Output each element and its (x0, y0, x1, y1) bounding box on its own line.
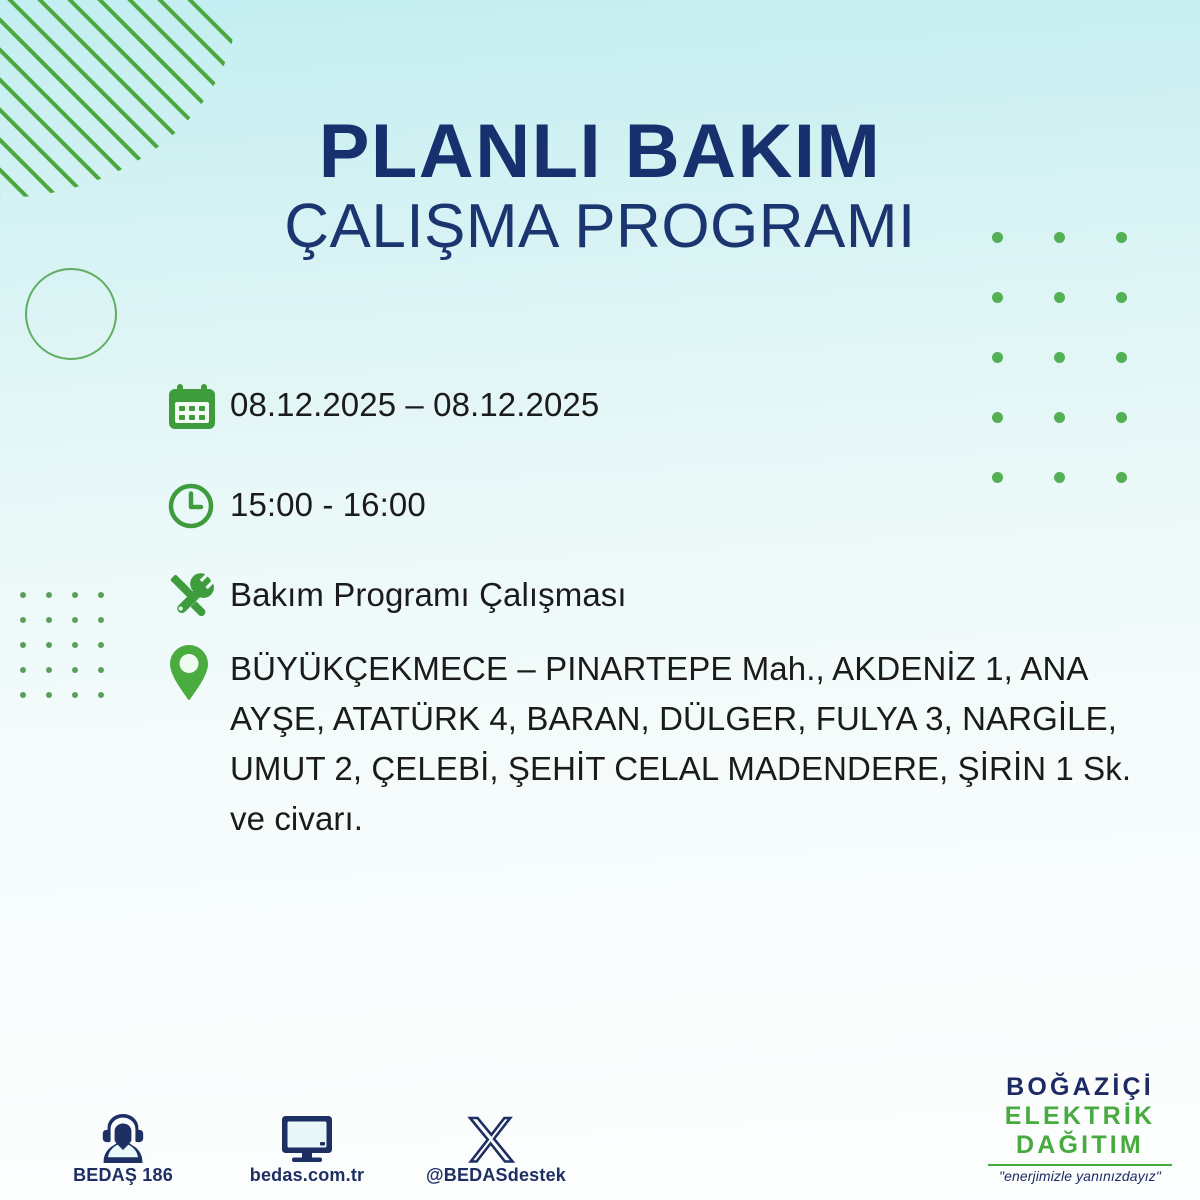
detail-row-date: 08.12.2025 – 08.12.2025 (166, 378, 1176, 478)
detail-row-time: 15:00 - 16:00 (166, 478, 1176, 568)
circle-decoration (25, 268, 117, 360)
detail-row-location: BÜYÜKÇEKMECE – PINARTEPE Mah., AKDENİZ 1… (166, 642, 1176, 844)
maintenance-details: 08.12.2025 – 08.12.2025 15:00 - 16:00 (166, 378, 1176, 844)
contact-website[interactable]: bedas.com.tr (242, 1105, 372, 1186)
calendar-icon (166, 378, 230, 434)
dot-grid-decoration-left (20, 592, 124, 717)
work-type-value: Bakım Programı Çalışması (230, 568, 627, 620)
monitor-icon (242, 1105, 372, 1165)
date-range-value: 08.12.2025 – 08.12.2025 (230, 378, 599, 430)
support-agent-icon (58, 1105, 188, 1165)
brand-line-bogazici: BOĞAZİÇİ (982, 1073, 1178, 1102)
brand-line-elektrik: ELEKTRİK (982, 1102, 1178, 1131)
planned-maintenance-poster: PLANLI BAKIM ÇALIŞMA PROGRAMI (0, 0, 1200, 1200)
time-range-value: 15:00 - 16:00 (230, 478, 426, 530)
clock-icon (166, 478, 230, 534)
contact-list: BEDAŞ 186 bedas.com.tr (58, 1105, 556, 1186)
poster-header: PLANLI BAKIM ÇALIŞMA PROGRAMI (0, 112, 1200, 260)
page-subtitle: ÇALIŞMA PROGRAMI (0, 194, 1200, 260)
poster-footer: BEDAŞ 186 bedas.com.tr (0, 1050, 1200, 1200)
location-pin-icon (166, 642, 230, 706)
contact-website-label: bedas.com.tr (250, 1165, 364, 1185)
brand-tagline: "enerjimizle yanınızdayız" (982, 1168, 1178, 1184)
contact-x-account[interactable]: @BEDASdestek (426, 1105, 556, 1186)
contact-phone-label: BEDAŞ 186 (73, 1165, 173, 1185)
brand-logo: BOĞAZİÇİ ELEKTRİK DAĞITIM "enerjimizle y… (982, 1073, 1178, 1184)
contact-phone[interactable]: BEDAŞ 186 (58, 1105, 188, 1186)
location-value: BÜYÜKÇEKMECE – PINARTEPE Mah., AKDENİZ 1… (230, 642, 1160, 844)
brand-line-dagitim: DAĞITIM (982, 1131, 1178, 1160)
contact-x-label: @BEDASdestek (426, 1165, 566, 1185)
page-title: PLANLI BAKIM (0, 112, 1200, 192)
detail-row-work-type: Bakım Programı Çalışması (166, 568, 1176, 642)
x-logo-icon (426, 1105, 556, 1165)
brand-divider (988, 1164, 1172, 1166)
tools-icon (166, 568, 230, 624)
